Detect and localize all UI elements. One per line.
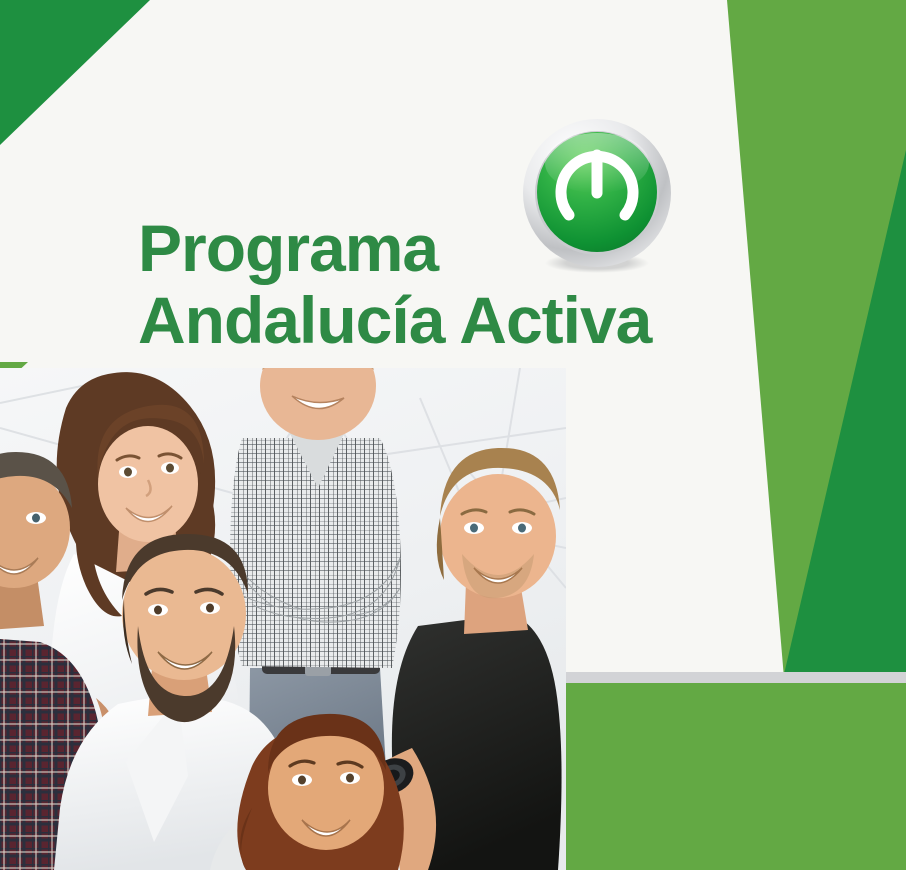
- poster-canvas: Programa Andalucía Activa: [0, 0, 906, 870]
- title-line-2: Andalucía Activa: [138, 284, 738, 356]
- power-button-icon: [518, 117, 676, 275]
- gray-separator-strip: [566, 672, 906, 683]
- bottom-right-green-block: [566, 683, 906, 870]
- group-photo: [0, 368, 566, 870]
- top-left-triangle-shape: [0, 0, 150, 145]
